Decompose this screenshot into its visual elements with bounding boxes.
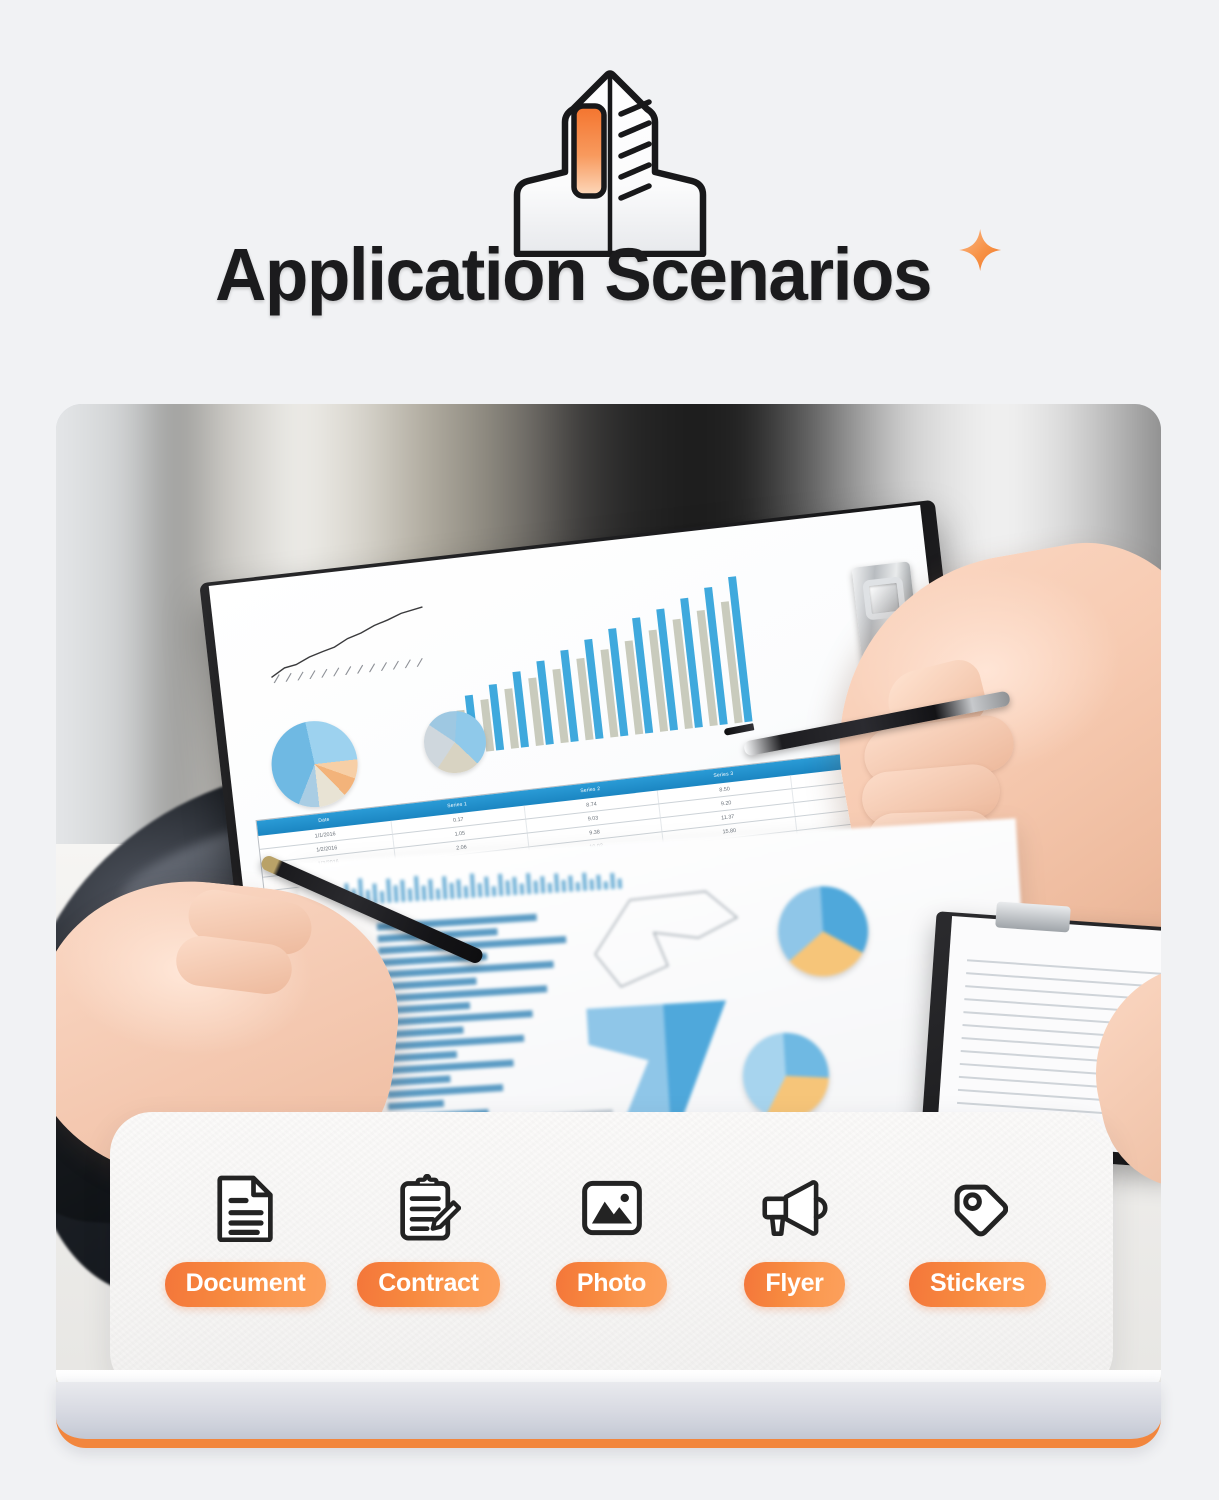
device-bottom-edge xyxy=(56,1382,1161,1448)
scenario-item-contract[interactable]: Contract xyxy=(337,1168,520,1307)
title-row: Application Scenarios xyxy=(215,238,1005,312)
page-title: Application Scenarios xyxy=(215,238,931,312)
document-page-icon xyxy=(210,1168,282,1248)
price-tag-icon xyxy=(942,1168,1014,1248)
application-scenarios-page: Application Scenarios xyxy=(0,0,1219,1500)
skyscraper-building-icon xyxy=(495,62,725,257)
scenario-item-photo[interactable]: Photo xyxy=(520,1168,703,1307)
sparkle-star-icon xyxy=(956,226,1004,274)
foreground-pie-chart xyxy=(775,884,870,979)
scenario-item-document[interactable]: Document xyxy=(154,1168,337,1307)
scenario-badge-label[interactable]: Photo xyxy=(556,1262,667,1307)
page-header: Application Scenarios xyxy=(0,0,1219,382)
megaphone-icon xyxy=(759,1168,831,1248)
foreground-horizontal-bar-chart xyxy=(377,911,590,1134)
trend-line-chart xyxy=(261,603,437,684)
scenario-badge-label[interactable]: Contract xyxy=(357,1262,499,1307)
scenario-badge-label[interactable]: Flyer xyxy=(744,1262,844,1307)
scenario-badge-card: Document Contract xyxy=(110,1112,1113,1394)
second-clipboard-metal-clip xyxy=(995,901,1071,932)
clipboard-pencil-icon xyxy=(393,1168,465,1248)
pie-chart-large xyxy=(263,713,366,816)
scenario-item-stickers[interactable]: Stickers xyxy=(886,1168,1069,1307)
scenario-item-flyer[interactable]: Flyer xyxy=(703,1168,886,1307)
foreground-scatter-chart xyxy=(585,882,771,1003)
scenario-badge-label[interactable]: Stickers xyxy=(909,1262,1046,1307)
image-picture-icon xyxy=(576,1168,648,1248)
scenario-badge-label[interactable]: Document xyxy=(165,1262,327,1307)
foreground-pie-chart xyxy=(740,1030,831,1121)
